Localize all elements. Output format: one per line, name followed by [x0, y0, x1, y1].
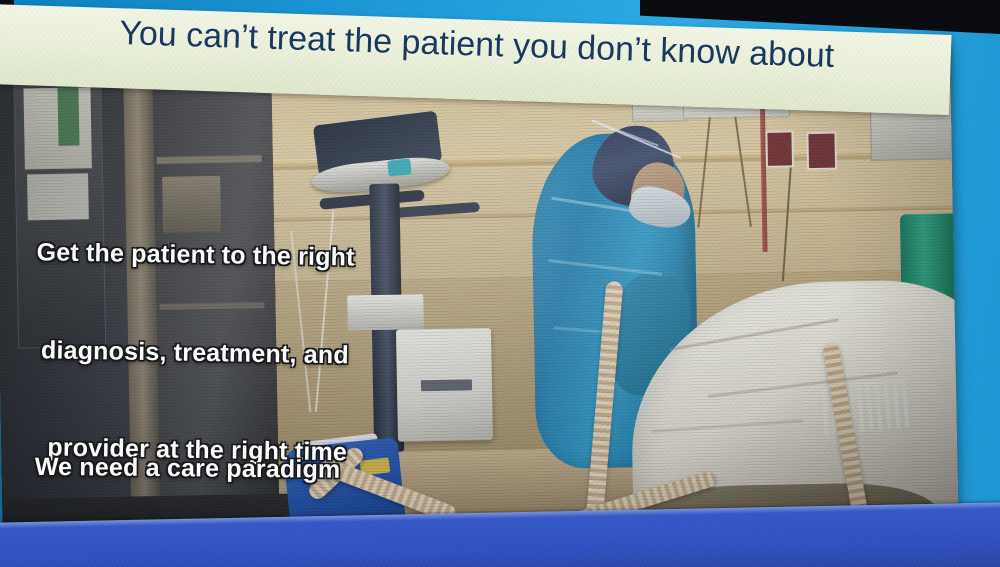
slide-photograph: Get the patient to the right diagnosis, …	[0, 46, 959, 567]
green-label-strip	[57, 80, 79, 146]
medical-gas-outlet	[765, 130, 795, 167]
projected-slide-photo: Get the patient to the right diagnosis, …	[0, 0, 1000, 567]
cart-module	[347, 294, 424, 331]
medical-gas-outlet-2	[806, 132, 837, 171]
body-line: diagnosis, treatment, and	[35, 334, 354, 372]
cart-control-knob	[387, 159, 412, 178]
body-line: We need a care paradigm	[15, 451, 360, 487]
body-line: Get the patient to the right	[36, 236, 355, 274]
device-label	[420, 379, 472, 391]
